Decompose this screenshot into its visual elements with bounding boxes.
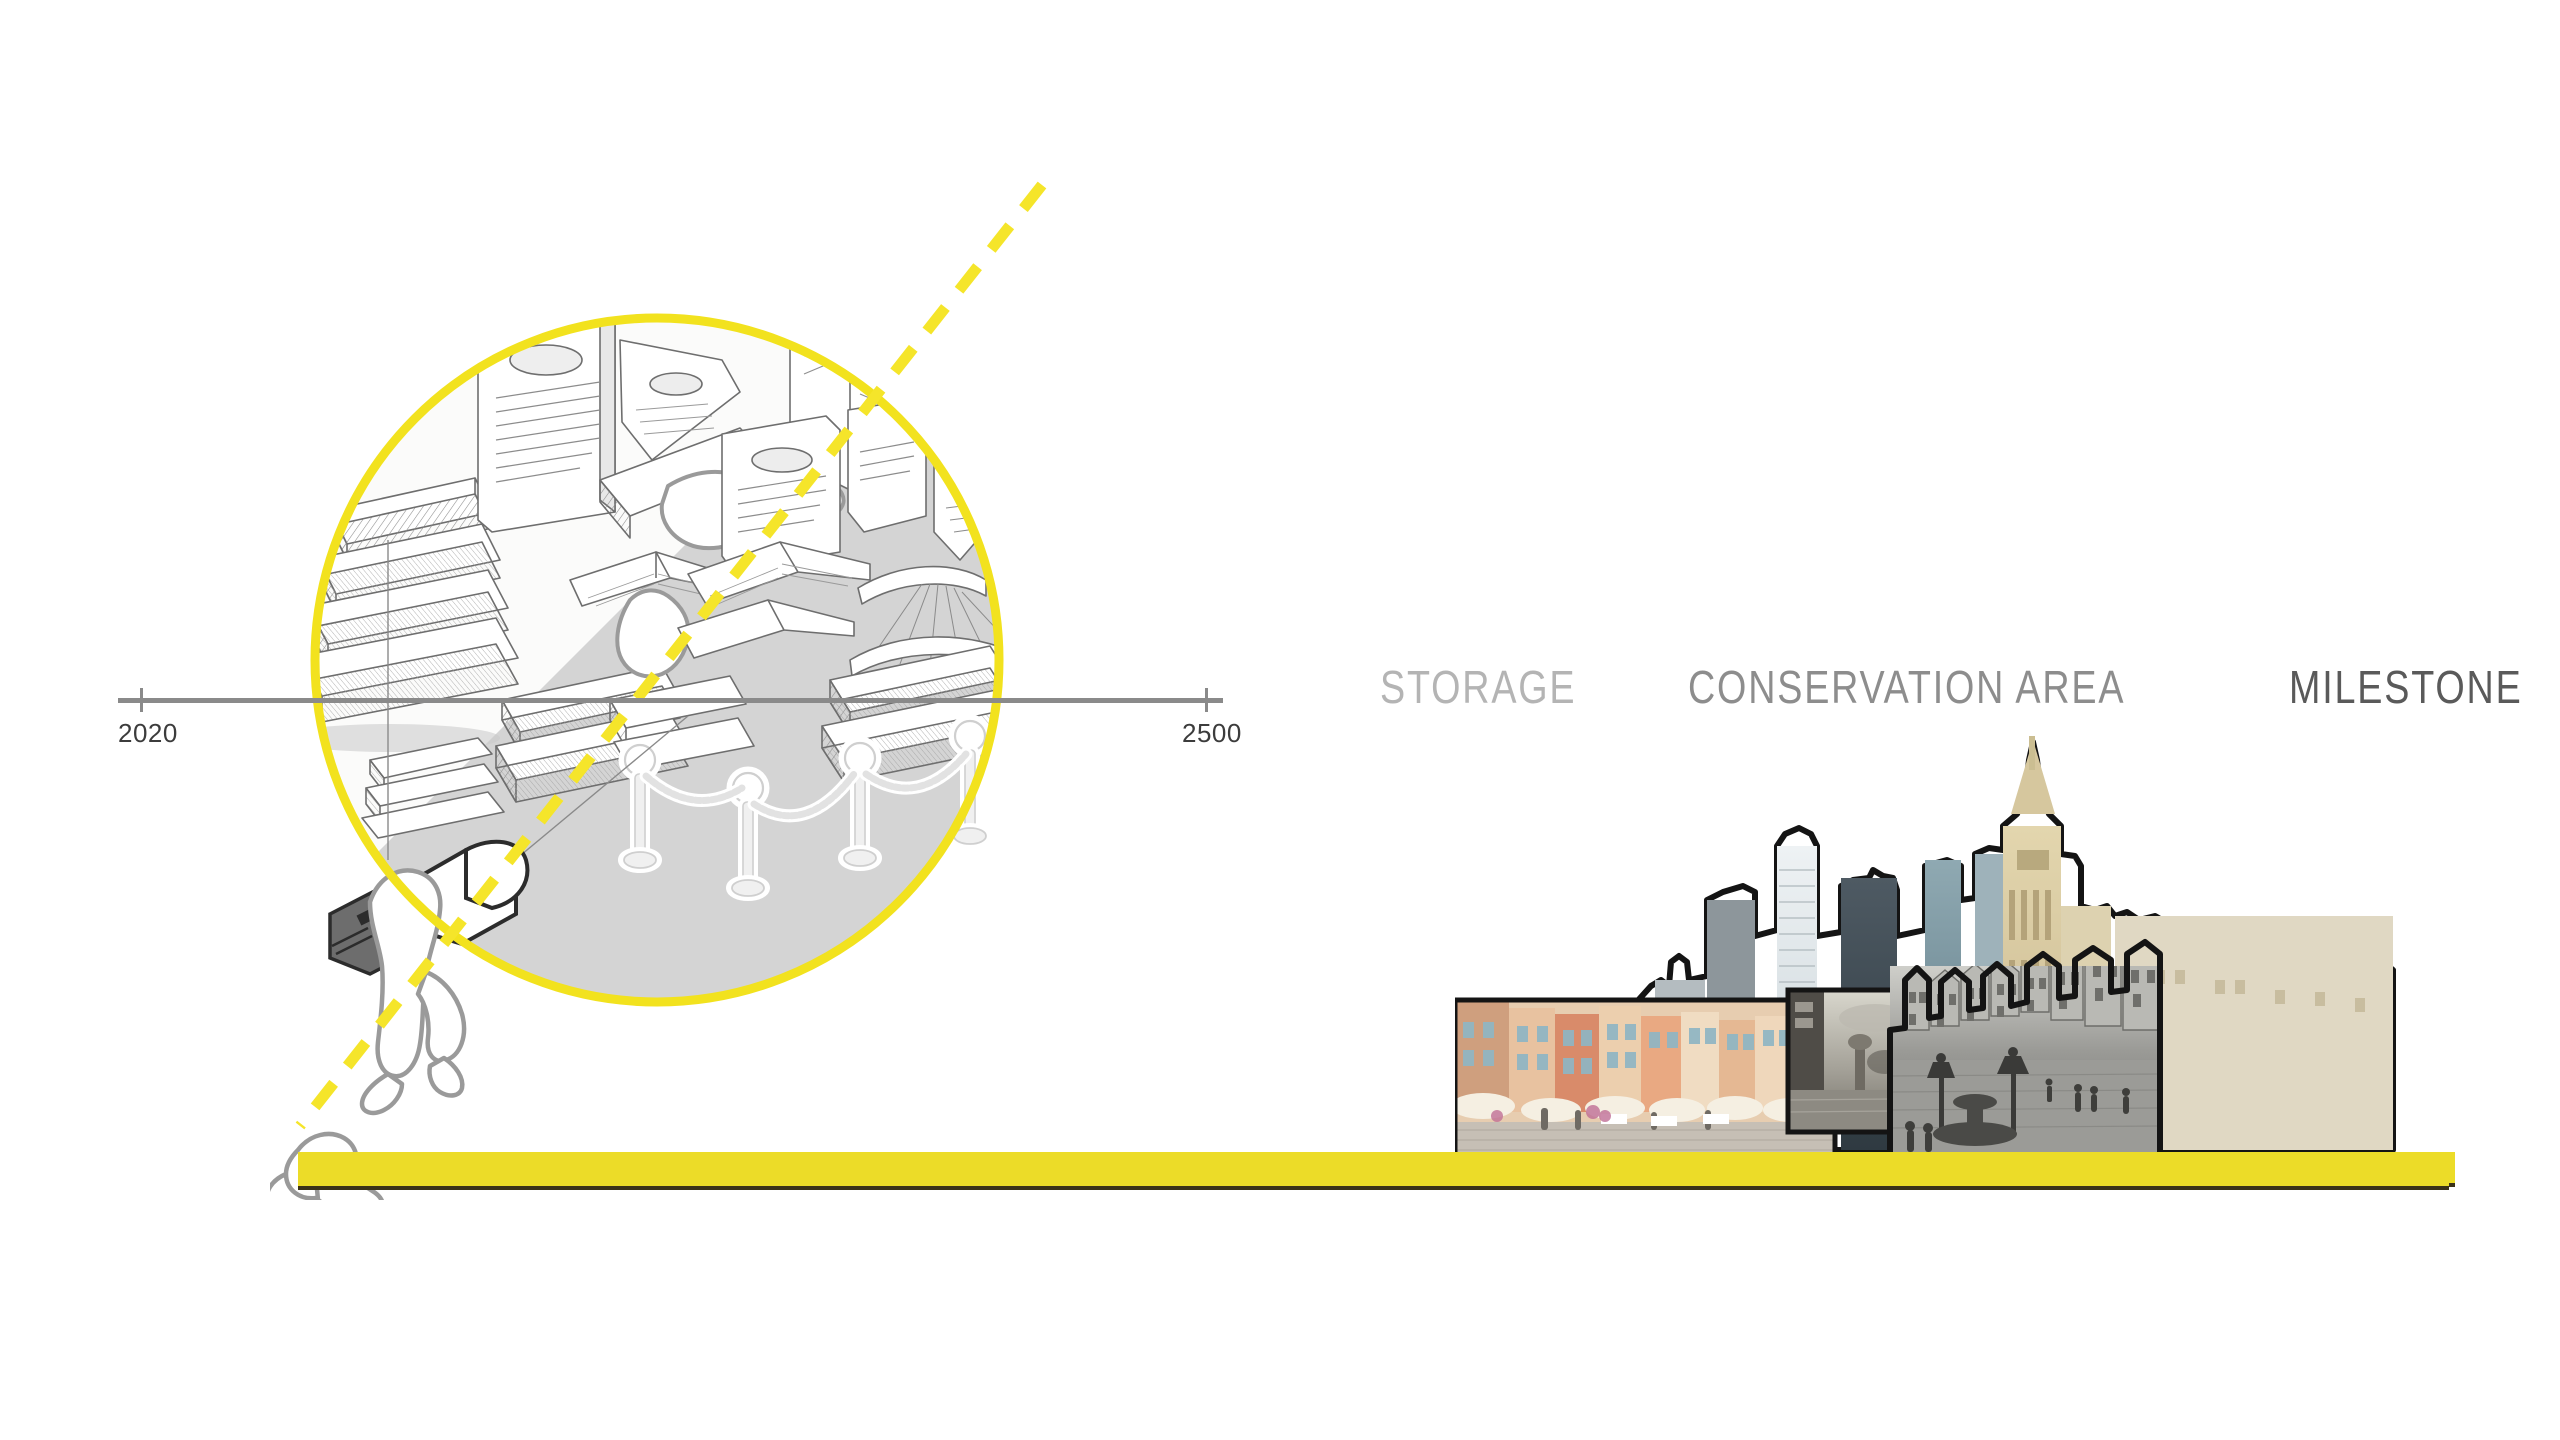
diagram-canvas: 2020 2500 STORAGE CONSERVATION AREA MILE… bbox=[0, 0, 2560, 1440]
timeline-label-end: 2500 bbox=[1182, 718, 1242, 749]
city-collage bbox=[1455, 730, 2455, 1200]
base-timeline-bar bbox=[298, 1152, 2449, 1190]
circle-scene bbox=[270, 160, 1130, 1200]
timeline-axis bbox=[118, 698, 1223, 703]
heading-milestone: MILESTONE bbox=[2289, 660, 2523, 714]
heading-storage: STORAGE bbox=[1380, 660, 1576, 714]
timeline-tick-start bbox=[140, 688, 143, 712]
section-headings: STORAGE CONSERVATION AREA MILESTONE bbox=[1380, 660, 2560, 714]
timeline-tick-end bbox=[1205, 688, 1208, 712]
timeline-label-start: 2020 bbox=[118, 718, 178, 749]
photo-old-town-colour bbox=[1455, 1000, 1835, 1158]
heading-conservation-area: CONSERVATION AREA bbox=[1688, 660, 2125, 714]
